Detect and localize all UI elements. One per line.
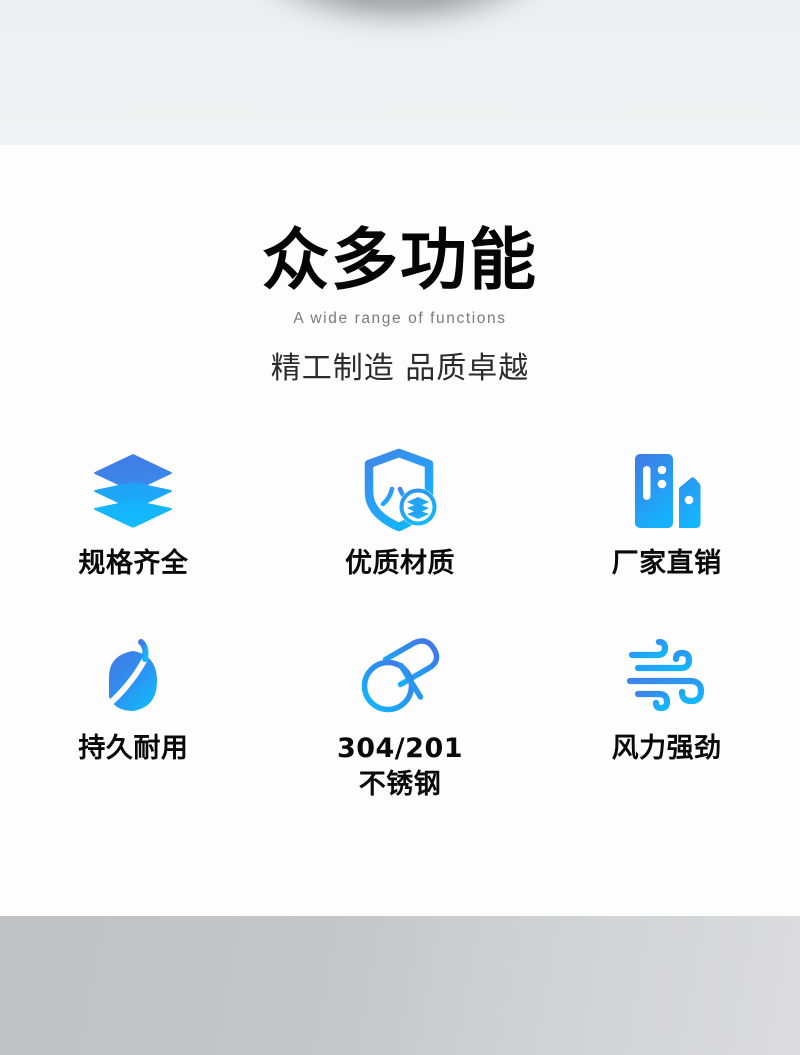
feature-item-factory-direct: 厂家直销 <box>533 445 800 630</box>
feature-item-stainless-steel: 304/201 不锈钢 <box>267 630 534 815</box>
feature-label: 风力强劲 <box>612 731 722 767</box>
page-title: 众多功能 <box>0 145 800 294</box>
feature-label: 厂家直销 <box>612 546 722 582</box>
feature-label: 304/201 不锈钢 <box>337 731 463 803</box>
heading-block: 众多功能 A wide range of functions 精工制造 品质卓越 <box>0 145 800 387</box>
promo-page: 众多功能 A wide range of functions 精工制造 品质卓越 <box>0 0 800 1055</box>
wind-icon <box>617 630 717 722</box>
feature-grid: 规格齐全 <box>0 445 800 815</box>
page-subtitle-cn: 精工制造 品质卓越 <box>0 328 800 387</box>
shield-quality-icon <box>350 445 450 537</box>
feature-item-quality-material: 优质材质 <box>267 445 534 630</box>
top-gray-band <box>0 0 800 145</box>
feature-label: 优质材质 <box>345 546 455 582</box>
product-shadow-blur <box>255 0 545 24</box>
features-section: 众多功能 A wide range of functions 精工制造 品质卓越 <box>0 145 800 916</box>
feature-item-spec-complete: 规格齐全 <box>0 445 267 630</box>
page-subtitle-en: A wide range of functions <box>0 294 800 328</box>
steel-cylinder-icon <box>350 630 450 722</box>
factory-icon <box>617 445 717 537</box>
feature-label: 规格齐全 <box>78 546 188 582</box>
leaf-icon <box>83 630 183 722</box>
feature-item-durable: 持久耐用 <box>0 630 267 815</box>
feature-item-strong-wind: 风力强劲 <box>533 630 800 815</box>
bottom-gray-band <box>0 916 800 1055</box>
layers-icon <box>83 445 183 537</box>
feature-label: 持久耐用 <box>78 731 188 767</box>
